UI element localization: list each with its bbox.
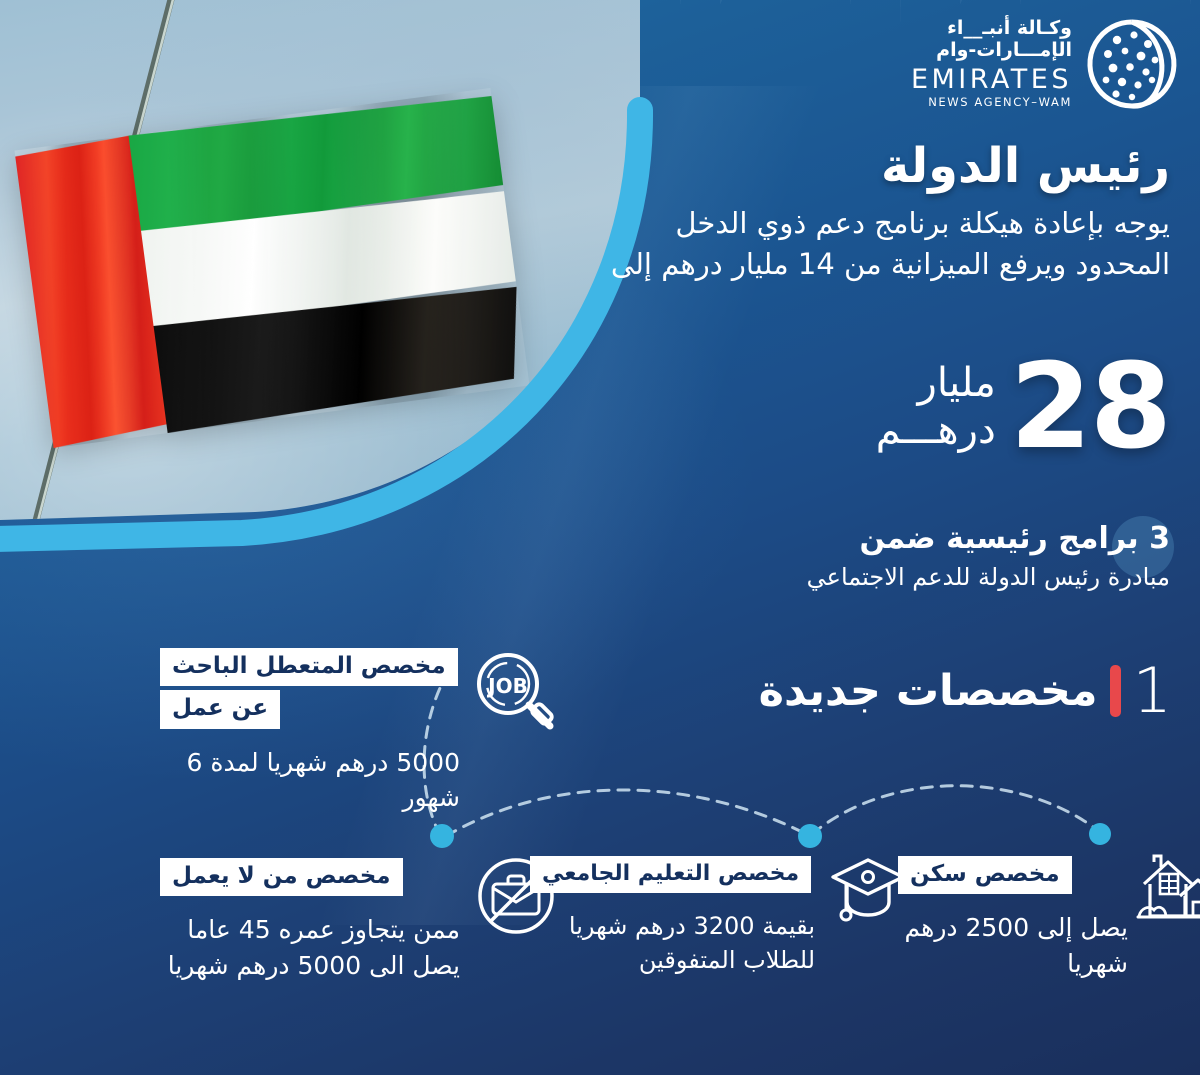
page-title: رئيس الدولة: [610, 140, 1170, 193]
card-chip-line1: مخصص من لا يعمل: [160, 858, 403, 896]
wam-logo-arabic-line1: وكـالة أنبـ__اء: [911, 19, 1072, 38]
card-description: بقيمة 3200 درهم شهريا للطلاب المتفوقين: [530, 909, 815, 977]
allocation-card-not-working: مخصص من لا يعمل ممن يتجاوز عمره 45 عاما …: [160, 858, 460, 983]
programs-headline: 3 برامج رئيسية ضمن: [550, 520, 1170, 558]
section-title: مخصصات جديدة: [759, 670, 1098, 713]
wam-logo-text: وكـالة أنبـ__اء الإمـــارات-وام EMIRATES…: [911, 19, 1072, 109]
programs-subline: مبادرة رئيس الدولة للدعم الاجتماعي: [550, 562, 1170, 593]
graduation-cap-icon: [828, 850, 908, 926]
dotted-globe-icon: [1086, 18, 1178, 110]
job-search-magnifier-icon: JOB: [470, 648, 558, 736]
card-chip-group: مخصص من لا يعمل: [160, 858, 460, 896]
programs-block: 3 برامج رئيسية ضمن مبادرة رئيس الدولة لل…: [550, 520, 1170, 593]
uae-flag-graphic: [14, 88, 529, 448]
section-heading: 1 مخصصات جديدة: [759, 660, 1172, 722]
budget-unit-line1: مليار: [876, 360, 996, 407]
card-chip-group: مخصص التعليم الجامعي: [530, 856, 815, 893]
card-description: ممن يتجاوز عمره 45 عاما يصل الى 5000 دره…: [160, 912, 460, 983]
card-chip-group: مخصص سكن: [898, 856, 1128, 894]
card-chip-line1: مخصص التعليم الجامعي: [530, 856, 811, 893]
budget-amount-block: 28 مليار درهـــم: [550, 355, 1170, 459]
job-icon-label: JOB: [486, 674, 528, 698]
card-description: 5000 درهم شهريا لمدة 6 شهور: [160, 745, 460, 816]
headline-block: رئيس الدولة يوجه بإعادة هيكلة برنامج دعم…: [610, 140, 1170, 285]
card-description: يصل إلى 2500 درهم شهريا: [898, 910, 1128, 981]
flag-fold-shading: [14, 88, 529, 448]
budget-amount-unit: مليار درهـــم: [876, 360, 996, 454]
budget-unit-line2: درهـــم: [876, 407, 996, 454]
card-chip-line2: عن عمل: [160, 690, 280, 728]
allocation-card-job-seeker: مخصص المتعطل الباحث عن عمل 5000 درهم شهر…: [160, 648, 460, 816]
headline-subtitle: يوجه بإعادة هيكلة برنامج دعم ذوي الدخل ا…: [610, 203, 1170, 285]
wam-logo: وكـالة أنبـ__اء الإمـــارات-وام EMIRATES…: [911, 18, 1178, 110]
section-accent-bar: [1110, 665, 1121, 717]
wam-logo-arabic-line2: الإمـــارات-وام: [911, 41, 1072, 60]
wam-logo-english-line2: NEWS AGENCY–WAM: [911, 97, 1072, 109]
section-number: 1: [1133, 660, 1172, 722]
allocation-card-housing: مخصص سكن يصل إلى 2500 درهم شهريا: [898, 856, 1128, 981]
card-chip-line1: مخصص المتعطل الباحث: [160, 648, 458, 686]
allocation-card-university: مخصص التعليم الجامعي بقيمة 3200 درهم شهر…: [530, 856, 815, 977]
card-chip-group: مخصص المتعطل الباحث عن عمل: [160, 648, 460, 729]
card-chip-line1: مخصص سكن: [898, 856, 1072, 894]
house-icon: [1136, 848, 1200, 928]
wam-logo-english-line1: EMIRATES: [911, 66, 1072, 93]
budget-amount-value: 28: [1010, 355, 1170, 459]
